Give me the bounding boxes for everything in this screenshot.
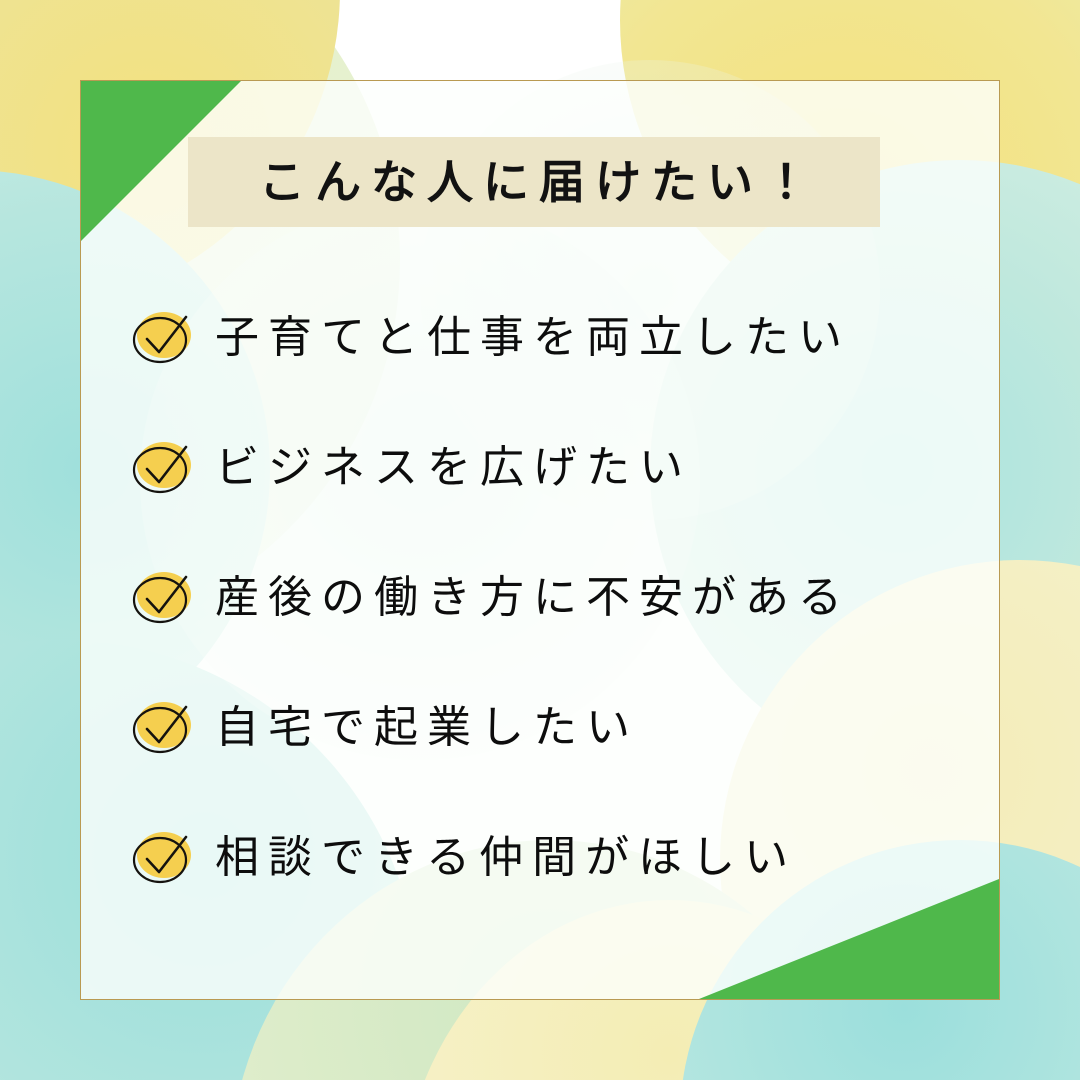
list-item: 産後の働き方に不安がある: [123, 533, 983, 663]
content-card: こんな人に届けたい！ 子育てと仕事を両立したい: [80, 80, 1000, 1000]
title-banner: こんな人に届けたい！: [188, 137, 880, 227]
list-item: 子育てと仕事を両立したい: [123, 273, 983, 403]
check-circle-icon: [129, 566, 195, 630]
check-circle-icon: [129, 826, 195, 890]
checklist: 子育てと仕事を両立したい ビジネスを広げたい: [123, 273, 983, 923]
list-item-label: ビジネスを広げたい: [215, 446, 692, 490]
list-item-label: 子育てと仕事を両立したい: [215, 316, 851, 360]
poster-canvas: こんな人に届けたい！ 子育てと仕事を両立したい: [0, 0, 1080, 1080]
page-title: こんな人に届けたい！: [249, 159, 819, 205]
check-circle-icon: [129, 436, 195, 500]
list-item: 自宅で起業したい: [123, 663, 983, 793]
list-item: ビジネスを広げたい: [123, 403, 983, 533]
list-item-label: 自宅で起業したい: [215, 706, 639, 750]
list-item-label: 産後の働き方に不安がある: [215, 576, 851, 620]
list-item: 相談できる仲間がほしい: [123, 793, 983, 923]
check-circle-icon: [129, 306, 195, 370]
check-circle-icon: [129, 696, 195, 760]
list-item-label: 相談できる仲間がほしい: [215, 836, 797, 880]
